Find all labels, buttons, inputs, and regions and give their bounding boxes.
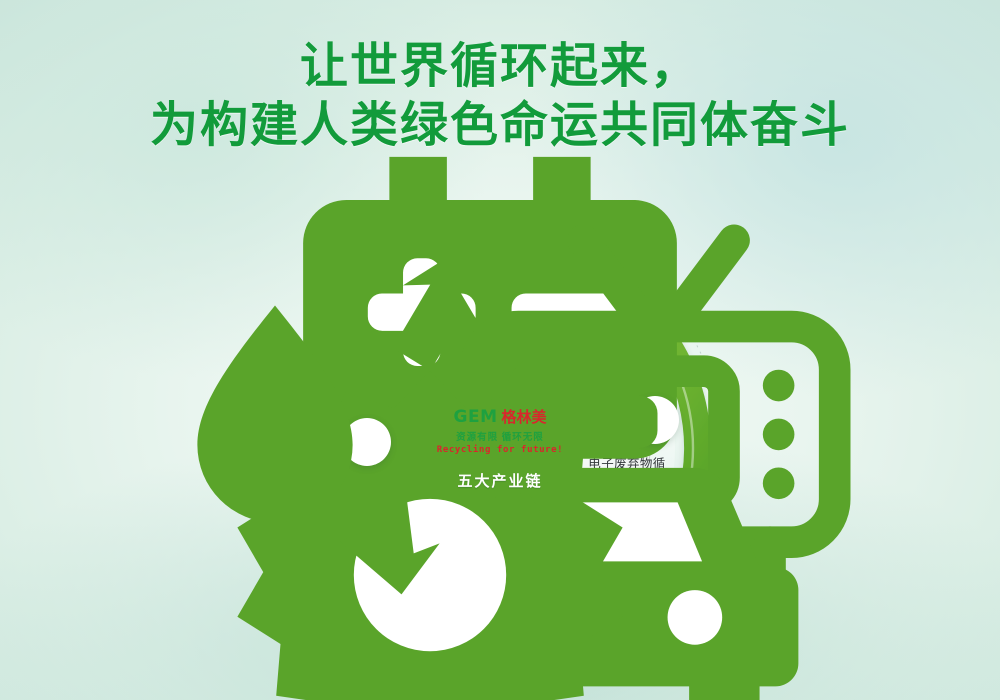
headline-line-2: 为构建人类绿色命运共同体奋斗 [0, 97, 1000, 156]
petal-water-bubble[interactable] [343, 418, 391, 466]
headline-line-1: 让世界循环起来， [0, 38, 1000, 97]
recycle-drop-icon [137, 212, 597, 672]
headline: 让世界循环起来， 为构建人类绿色命运共同体奋斗 [0, 38, 1000, 155]
poster-canvas: 让世界循环起来， 为构建人类绿色命运共同体奋斗 [0, 0, 1000, 700]
industry-chain-diagram: GEM 格林美 资源有限 循环无限 Recycling for future! … [270, 218, 730, 678]
